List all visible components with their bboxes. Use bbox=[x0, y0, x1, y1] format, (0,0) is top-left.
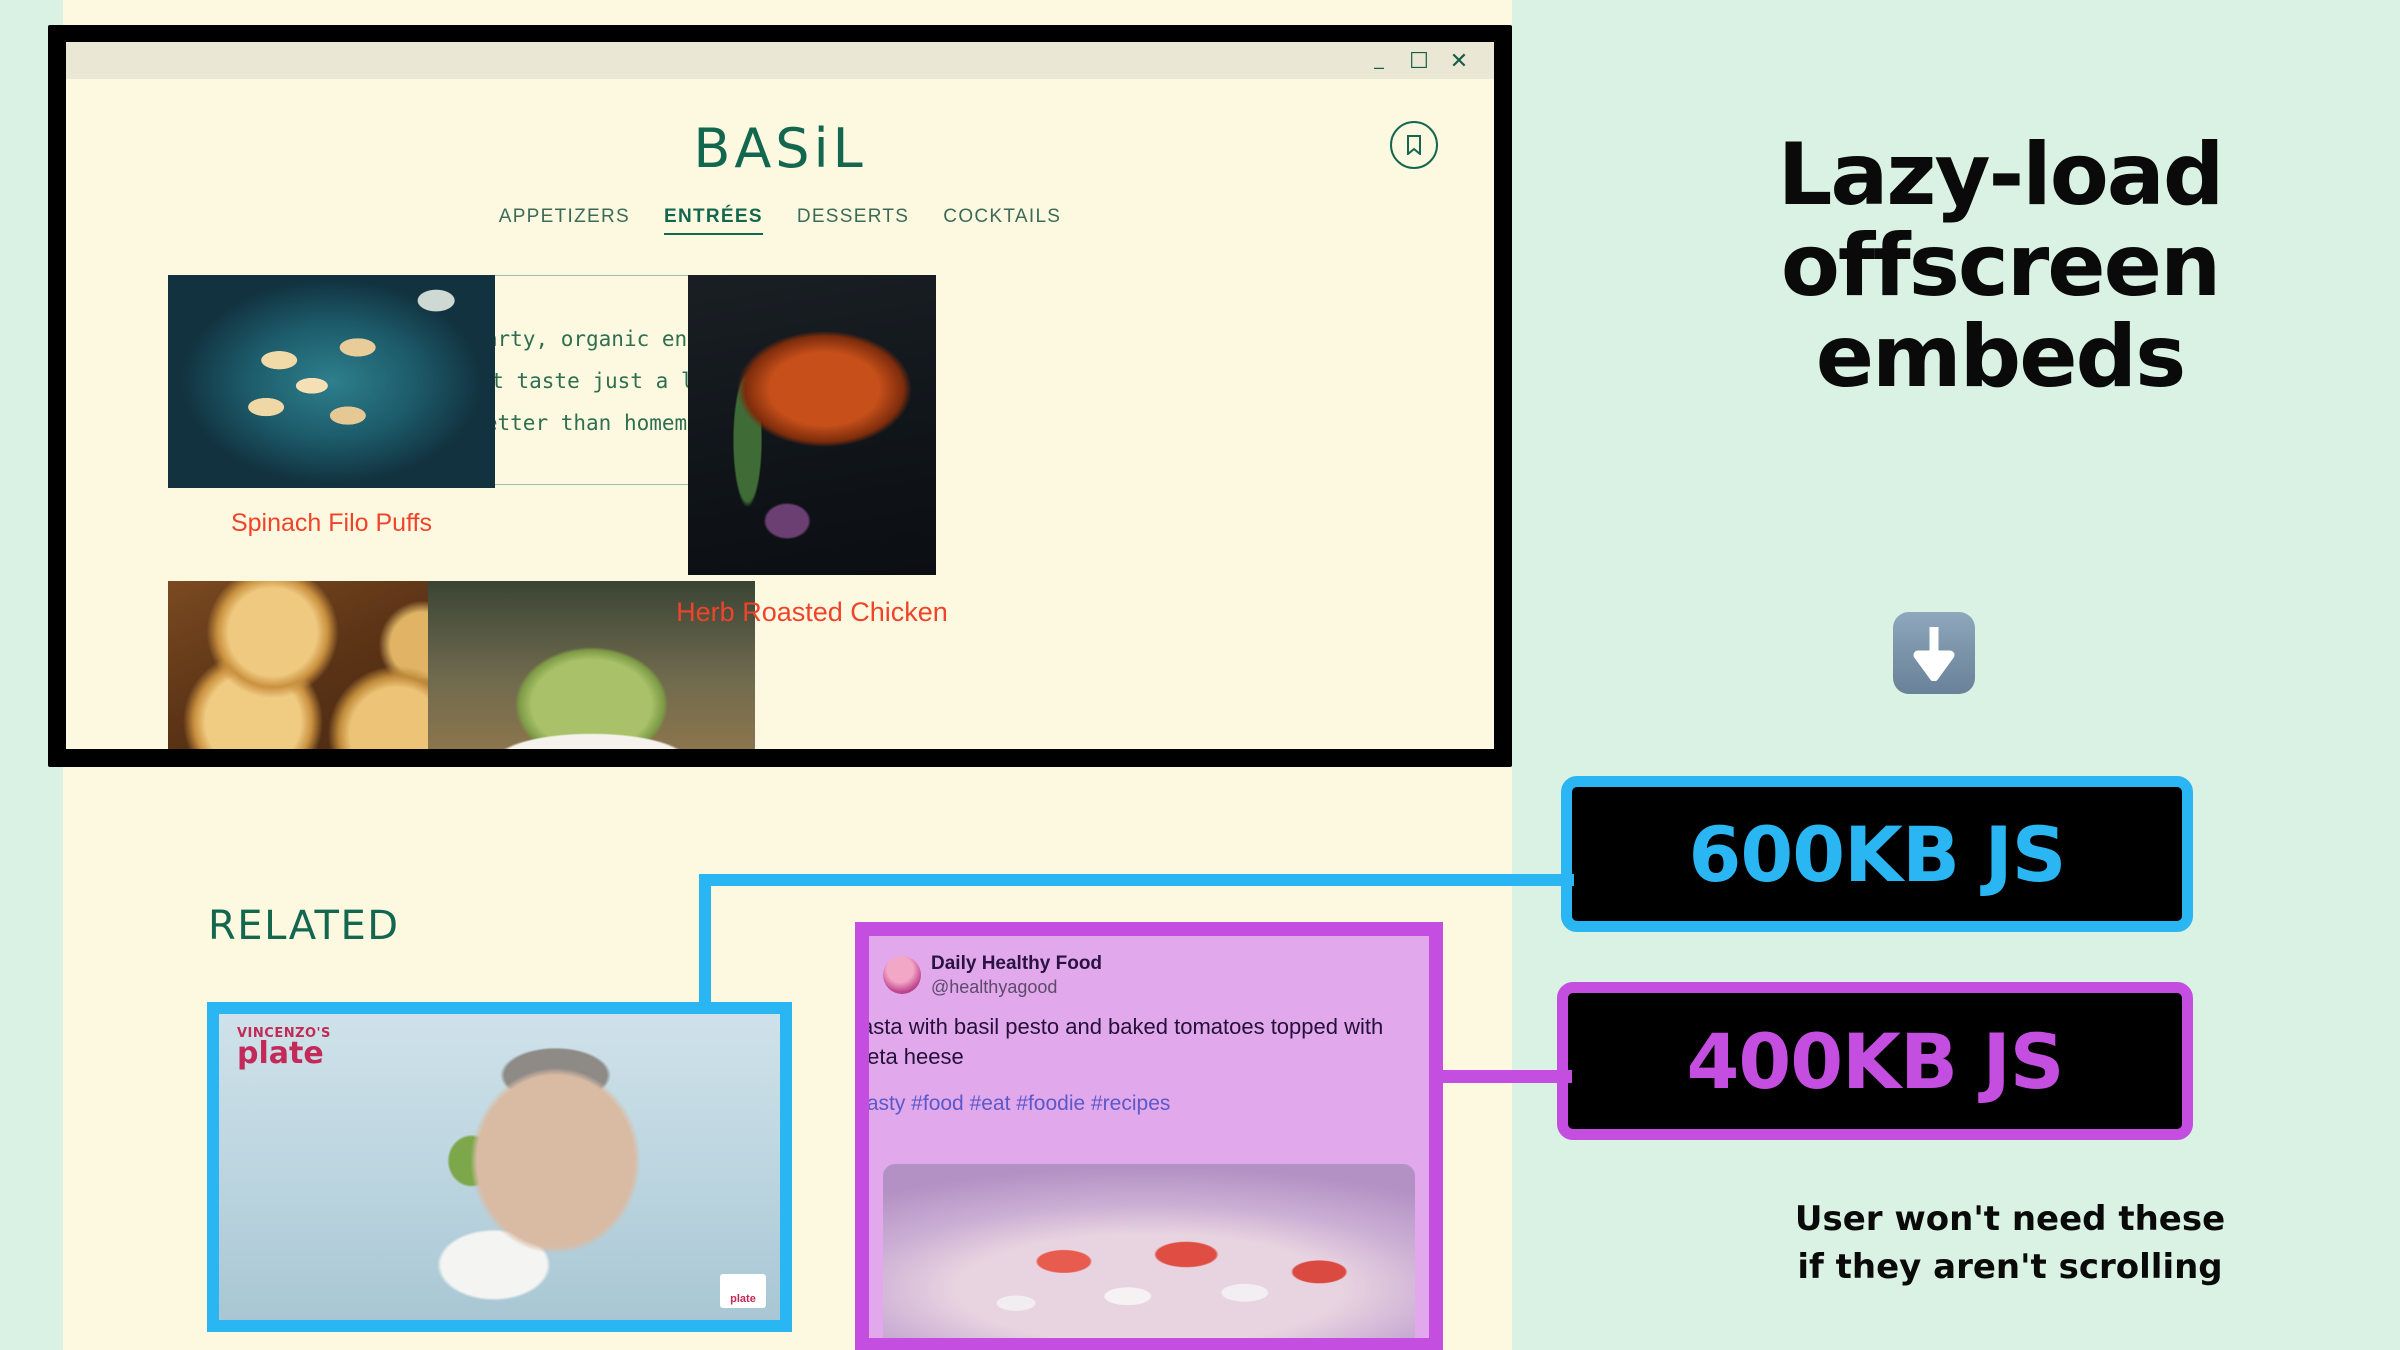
nav-item-appetizers[interactable]: APPETIZERS bbox=[499, 206, 630, 235]
dish-label-spinach-filo-puffs: Spinach Filo Puffs bbox=[168, 509, 495, 539]
video-embed-highlight[interactable]: VINCENZO'S plate plate bbox=[207, 1002, 792, 1332]
down-arrow-icon bbox=[1893, 612, 1975, 694]
connector-magenta-horizontal bbox=[1432, 1070, 1572, 1083]
site-brand-logo[interactable]: BASiL bbox=[66, 117, 1494, 180]
badge-400kb-js: 400KB JS bbox=[1557, 982, 2193, 1140]
slide-canvas: Lazy-load offscreen embeds 600KB JS 400K… bbox=[0, 0, 2400, 1350]
connector-cyan-horizontal bbox=[699, 874, 1574, 886]
window-titlebar: – ☐ ✕ bbox=[66, 42, 1494, 79]
social-embed-user[interactable]: Daily Healthy Food @healthyagood bbox=[883, 952, 1415, 998]
annotation-footnote-line1: User won't need these bbox=[1640, 1196, 2380, 1244]
social-embed-highlight[interactable]: Daily Healthy Food @healthyagood asta wi… bbox=[855, 922, 1443, 1350]
social-embed-display-name: Daily Healthy Food bbox=[931, 952, 1102, 976]
dish-grid: Hearty, organic entrées that taste just … bbox=[66, 271, 1494, 749]
nav-item-cocktails[interactable]: COCKTAILS bbox=[943, 206, 1061, 235]
dish-image-herb-roasted-chicken[interactable] bbox=[688, 275, 936, 575]
dish-label-herb-roasted-chicken: Herb Roasted Chicken bbox=[674, 597, 950, 629]
social-embed-photo bbox=[883, 1164, 1415, 1338]
bookmark-icon[interactable] bbox=[1390, 121, 1438, 169]
social-embed-body: asta with basil pesto and baked tomatoes… bbox=[861, 1012, 1415, 1071]
connector-cyan-vertical bbox=[699, 874, 711, 1006]
social-embed-card: Daily Healthy Food @healthyagood asta wi… bbox=[869, 936, 1429, 1116]
site-header: BASiL APPETIZERS ENTRÉES DESSERTS COCKTA… bbox=[66, 79, 1494, 235]
badge-600kb-js: 600KB JS bbox=[1561, 776, 2193, 932]
dish-image-spinach-filo-puffs[interactable] bbox=[168, 275, 495, 488]
maximize-icon[interactable]: ☐ bbox=[1408, 50, 1430, 72]
avatar bbox=[883, 956, 921, 994]
social-embed-handle[interactable]: @healthyagood bbox=[931, 976, 1102, 999]
minimize-icon[interactable]: – bbox=[1368, 58, 1390, 76]
browser-window-frame: – ☐ ✕ BASiL APPETIZERS ENTRÉES DESSERTS … bbox=[48, 25, 1512, 767]
annotation-headline: Lazy-load offscreen embeds bbox=[1640, 130, 2360, 403]
nav-item-entrees[interactable]: ENTRÉES bbox=[664, 206, 763, 235]
related-heading: RELATED bbox=[208, 903, 400, 949]
social-embed-hashtags[interactable]: tasty #food #eat #foodie #recipes bbox=[861, 1092, 1415, 1116]
annotation-footnote-line2: if they aren't scrolling bbox=[1640, 1244, 2380, 1292]
vincenzos-plate-watermark: VINCENZO'S plate bbox=[237, 1028, 331, 1069]
watermark-bottom-text: plate bbox=[237, 1040, 331, 1069]
browser-viewport: – ☐ ✕ BASiL APPETIZERS ENTRÉES DESSERTS … bbox=[66, 42, 1494, 749]
nav-item-desserts[interactable]: DESSERTS bbox=[797, 206, 909, 235]
annotation-footnote: User won't need these if they aren't scr… bbox=[1640, 1196, 2380, 1291]
site-nav: APPETIZERS ENTRÉES DESSERTS COCKTAILS bbox=[66, 206, 1494, 235]
video-corner-badge: plate bbox=[720, 1274, 766, 1308]
close-icon[interactable]: ✕ bbox=[1448, 50, 1470, 72]
